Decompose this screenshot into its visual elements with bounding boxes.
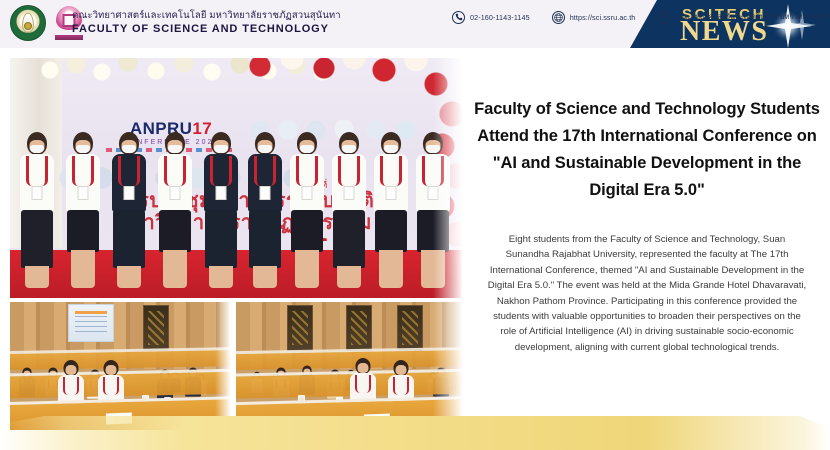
facebook-icon bbox=[657, 11, 670, 24]
footer-contact-bar: 02-160-1143-1145 https://sci.ssru.ac.th … bbox=[452, 0, 830, 34]
footer-phone-text: 02-160-1143-1145 bbox=[470, 13, 530, 22]
footer-website: https://sci.ssru.ac.th bbox=[552, 11, 636, 24]
group-photo: ANPRU17 CONFERENCE 2025 การประชุมวิชาการ… bbox=[10, 58, 466, 298]
header-org-english: FACULTY OF SCIENCE AND TECHNOLOGY bbox=[72, 22, 341, 37]
article-headline: Faculty of Science and Technology Studen… bbox=[474, 96, 820, 204]
attendees-photo bbox=[236, 302, 466, 430]
article-content: Faculty of Science and Technology Studen… bbox=[474, 96, 820, 355]
article-body: Eight students from the Faculty of Scien… bbox=[474, 232, 820, 355]
news-graphic-page: คณะวิทยาศาสตร์และเทคโนโลยี มหาวิทยาลัยรา… bbox=[0, 0, 830, 450]
photo-collage: ANPRU17 CONFERENCE 2025 การประชุมวิชาการ… bbox=[10, 58, 466, 430]
globe-icon bbox=[552, 11, 565, 24]
footer-website-text: https://sci.ssru.ac.th bbox=[570, 13, 636, 22]
footer-facebook: คณะวิทยาศาสตร์และเทคโนโลยี มหาวิทยาลัยรา… bbox=[657, 11, 830, 24]
page-footer bbox=[0, 416, 830, 450]
group-of-students bbox=[10, 120, 466, 292]
phone-icon bbox=[452, 11, 465, 24]
footer-phone: 02-160-1143-1145 bbox=[452, 11, 530, 24]
university-seal-icon bbox=[10, 5, 46, 41]
seated-students-photo bbox=[10, 302, 232, 430]
footer-facebook-text: คณะวิทยาศาสตร์และเทคโนโลยี มหาวิทยาลัยรา… bbox=[675, 12, 830, 23]
header-title-block: คณะวิทยาศาสตร์และเทคโนโลยี มหาวิทยาลัยรา… bbox=[72, 9, 341, 37]
header-org-thai: คณะวิทยาศาสตร์และเทคโนโลยี มหาวิทยาลัยรา… bbox=[72, 9, 341, 22]
